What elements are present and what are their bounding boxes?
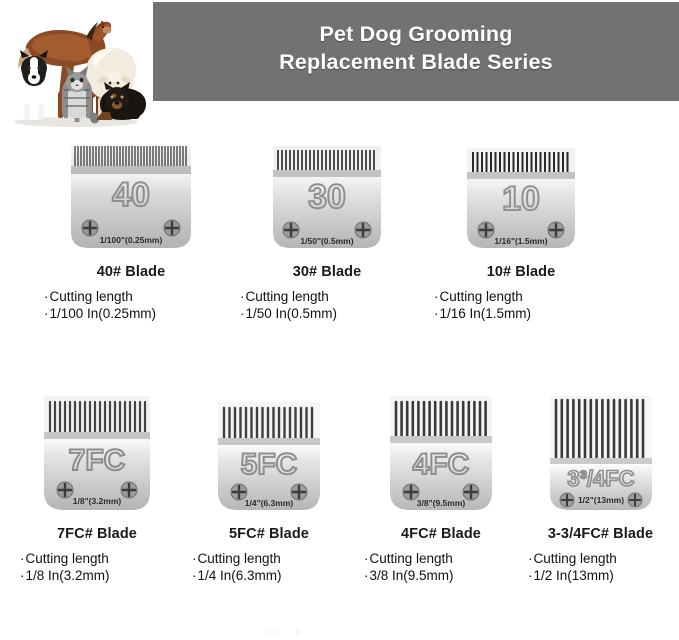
blade-face-size: 1/100"(0.25mm) — [100, 235, 163, 245]
blade-graphic-fine: 40 1/100"(0.25mm) — [67, 140, 195, 252]
pet-animals-photo — [0, 0, 152, 128]
blade-card-5fc[interactable]: 5FC 1/4"(6.3mm) 5FC# Blade Cutting lengt… — [186, 392, 352, 584]
blade-face-number: 7FC — [69, 444, 126, 477]
blade-graphic-coarse: 5FC 1/4"(6.3mm) — [210, 392, 328, 514]
blade-caption-details: Cutting length 1/8 In(3.2mm) — [14, 550, 180, 584]
blade-face-number: 40 — [112, 176, 150, 214]
blade-face-number: 3³/4FC — [567, 466, 634, 491]
blade-caption-title: 10# Blade — [428, 264, 614, 280]
blade-card-40[interactable]: 40 1/100"(0.25mm) 40# Blade Cutting leng… — [38, 140, 224, 322]
blade-caption-details: Cutting length 3/8 In(9.5mm) — [358, 550, 524, 584]
blade-image-4fc: 4FC 3/8"(9.5mm) — [382, 392, 500, 519]
blade-image-3-3-4fc: 3³/4FC 1/2"(13mm) — [542, 392, 660, 519]
blade-caption-details: Cutting length 1/16 In(1.5mm) — [428, 288, 614, 322]
blade-card-30[interactable]: 30 1/50"(0.5mm) 30# Blade Cutting length… — [234, 140, 420, 322]
caption-cutting-length: Cutting length — [364, 550, 524, 567]
blade-caption-details: Cutting length 1/50 In(0.5mm) — [234, 288, 420, 322]
blade-face-size: 1/50"(0.5mm) — [300, 236, 353, 246]
blade-caption-details: Cutting length 1/2 In(13mm) — [522, 550, 679, 584]
caption-cutting-length: Cutting length — [44, 288, 224, 305]
blade-graphic-extra-coarse: 3³/4FC 1/2"(13mm) — [542, 392, 660, 514]
blade-image-5fc: 5FC 1/4"(6.3mm) — [210, 392, 328, 519]
faint-watermark — [268, 629, 308, 635]
page-title: Pet Dog Grooming Replacement Blade Serie… — [153, 20, 679, 76]
caption-cutting-value: 1/2 In(13mm) — [528, 567, 679, 584]
blade-face-size: 1/4"(6.3mm) — [245, 498, 294, 508]
caption-cutting-length: Cutting length — [20, 550, 180, 567]
caption-cutting-value: 1/4 In(6.3mm) — [192, 567, 352, 584]
blade-card-7fc[interactable]: 7FC 1/8"(3.2mm) 7FC# Blade Cutting lengt… — [14, 392, 180, 584]
title-line-2: Replacement Blade Series — [153, 48, 679, 76]
blade-image-40: 40 1/100"(0.25mm) — [67, 140, 195, 257]
product-infographic: Pet Dog Grooming Replacement Blade Serie… — [0, 0, 679, 640]
blade-face-number: 30 — [308, 178, 346, 216]
blade-face-size: 1/8"(3.2mm) — [73, 496, 122, 506]
blade-graphic-medium: 10 1/16"(1.5mm) — [461, 140, 581, 252]
blade-caption-title: 5FC# Blade — [186, 526, 352, 542]
blade-image-10: 10 1/16"(1.5mm) — [461, 140, 581, 257]
blade-face-number: 10 — [502, 180, 540, 218]
blade-image-7fc: 7FC 1/8"(3.2mm) — [38, 392, 156, 519]
blade-face-number: 4FC — [413, 448, 470, 481]
blade-caption-title: 4FC# Blade — [358, 526, 524, 542]
blade-face-size: 1/2"(13mm) — [577, 495, 623, 505]
blade-face-size: 3/8"(9.5mm) — [417, 498, 466, 508]
blade-row-top: 40 1/100"(0.25mm) 40# Blade Cutting leng… — [0, 140, 679, 355]
blade-caption-title: 30# Blade — [234, 264, 420, 280]
caption-cutting-value: 1/100 In(0.25mm) — [44, 305, 224, 322]
header-banner: Pet Dog Grooming Replacement Blade Serie… — [0, 0, 679, 128]
blade-card-10[interactable]: 10 1/16"(1.5mm) 10# Blade Cutting length… — [428, 140, 614, 322]
blade-card-4fc[interactable]: 4FC 3/8"(9.5mm) 4FC# Blade Cutting lengt… — [358, 392, 524, 584]
blade-caption-details: Cutting length 1/100 In(0.25mm) — [38, 288, 224, 322]
title-line-1: Pet Dog Grooming — [319, 22, 512, 46]
blade-graphic-coarse: 4FC 3/8"(9.5mm) — [382, 392, 500, 514]
caption-cutting-value: 1/16 In(1.5mm) — [434, 305, 614, 322]
blade-face-size: 1/16"(1.5mm) — [494, 236, 547, 246]
blade-graphic-fine: 30 1/50"(0.5mm) — [267, 140, 387, 252]
caption-cutting-length: Cutting length — [240, 288, 420, 305]
blade-graphic-coarse: 7FC 1/8"(3.2mm) — [38, 392, 156, 514]
caption-cutting-length: Cutting length — [192, 550, 352, 567]
animals-illustration — [0, 0, 152, 128]
caption-cutting-length: Cutting length — [528, 550, 679, 567]
caption-cutting-value: 1/8 In(3.2mm) — [20, 567, 180, 584]
caption-cutting-value: 3/8 In(9.5mm) — [364, 567, 524, 584]
blade-row-bottom: 7FC 1/8"(3.2mm) 7FC# Blade Cutting lengt… — [0, 392, 679, 614]
caption-cutting-value: 1/50 In(0.5mm) — [240, 305, 420, 322]
blade-caption-title: 40# Blade — [38, 264, 224, 280]
blade-card-3-3-4fc[interactable]: 3³/4FC 1/2"(13mm) 3-3/4FC# Blade Cutting… — [522, 392, 679, 584]
blade-face-number: 5FC — [241, 448, 298, 481]
caption-cutting-length: Cutting length — [434, 288, 614, 305]
blade-caption-details: Cutting length 1/4 In(6.3mm) — [186, 550, 352, 584]
blade-caption-title: 3-3/4FC# Blade — [522, 526, 679, 542]
blade-image-30: 30 1/50"(0.5mm) — [267, 140, 387, 257]
blade-caption-title: 7FC# Blade — [14, 526, 180, 542]
